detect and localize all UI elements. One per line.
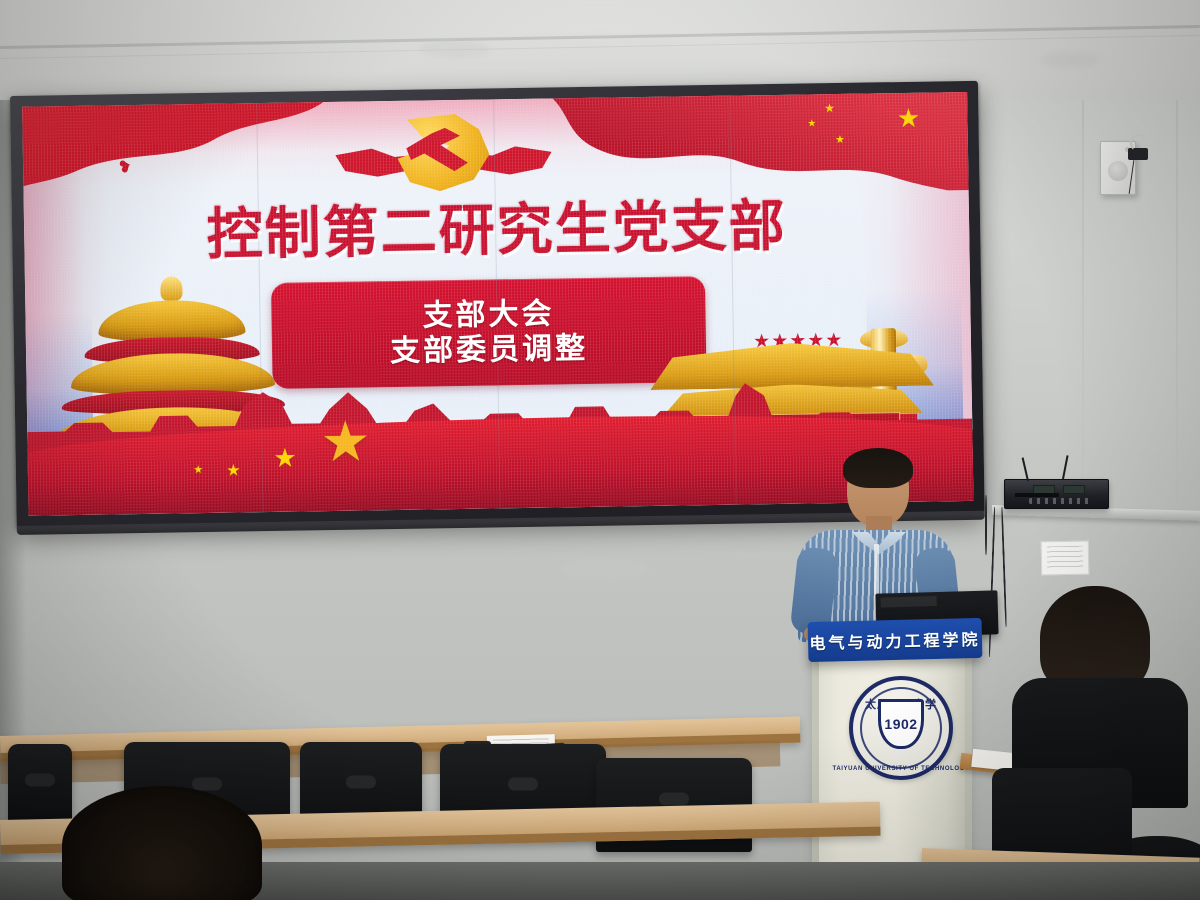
wall-seam (1082, 100, 1084, 660)
attendee-foreground-hair (62, 786, 262, 900)
wall-notice (1041, 541, 1090, 576)
attendee-foreground (62, 786, 262, 900)
notice-text-lines (1047, 546, 1083, 571)
classroom-photo-scene: ★ ★ ★ ★ ❥ ❥ ❥ 控制第二研究生党支部 支部大会 支部委员调整 ★★ (0, 0, 1200, 900)
podium-edge-left (812, 633, 819, 900)
presenter-hair (843, 448, 913, 488)
wall-seam-right (1176, 100, 1178, 620)
wireless-mic-receiver[interactable] (1004, 479, 1109, 509)
podium-nameplate: 电气与动力工程学院 (808, 618, 983, 662)
wall-scuff (1040, 52, 1100, 68)
chair-badge (346, 776, 376, 789)
wall-scuff (420, 40, 490, 58)
speaker-hook-icon (1130, 134, 1148, 152)
monitor-glare (880, 596, 936, 608)
receiver-controls[interactable] (1029, 498, 1091, 504)
university-emblem: 太原理工大学 1902 TAIYUAN UNIVERSITY OF TECHNO… (849, 676, 953, 780)
chair-badge (508, 778, 538, 791)
speaker-cone-icon (1108, 161, 1128, 181)
podium-nameplate-text: 电气与动力工程学院 (809, 626, 981, 654)
receiver-slot (1015, 493, 1059, 497)
chair-badge (25, 774, 55, 787)
emblem-name-en: TAIYUAN UNIVERSITY OF TECHNOLOGY (833, 766, 970, 772)
emblem-year: 1902 (884, 716, 917, 732)
equipment-cable (985, 495, 987, 555)
receiver-display-b (1063, 485, 1085, 494)
chair-badge (659, 793, 689, 806)
wall-scuff (560, 560, 650, 580)
